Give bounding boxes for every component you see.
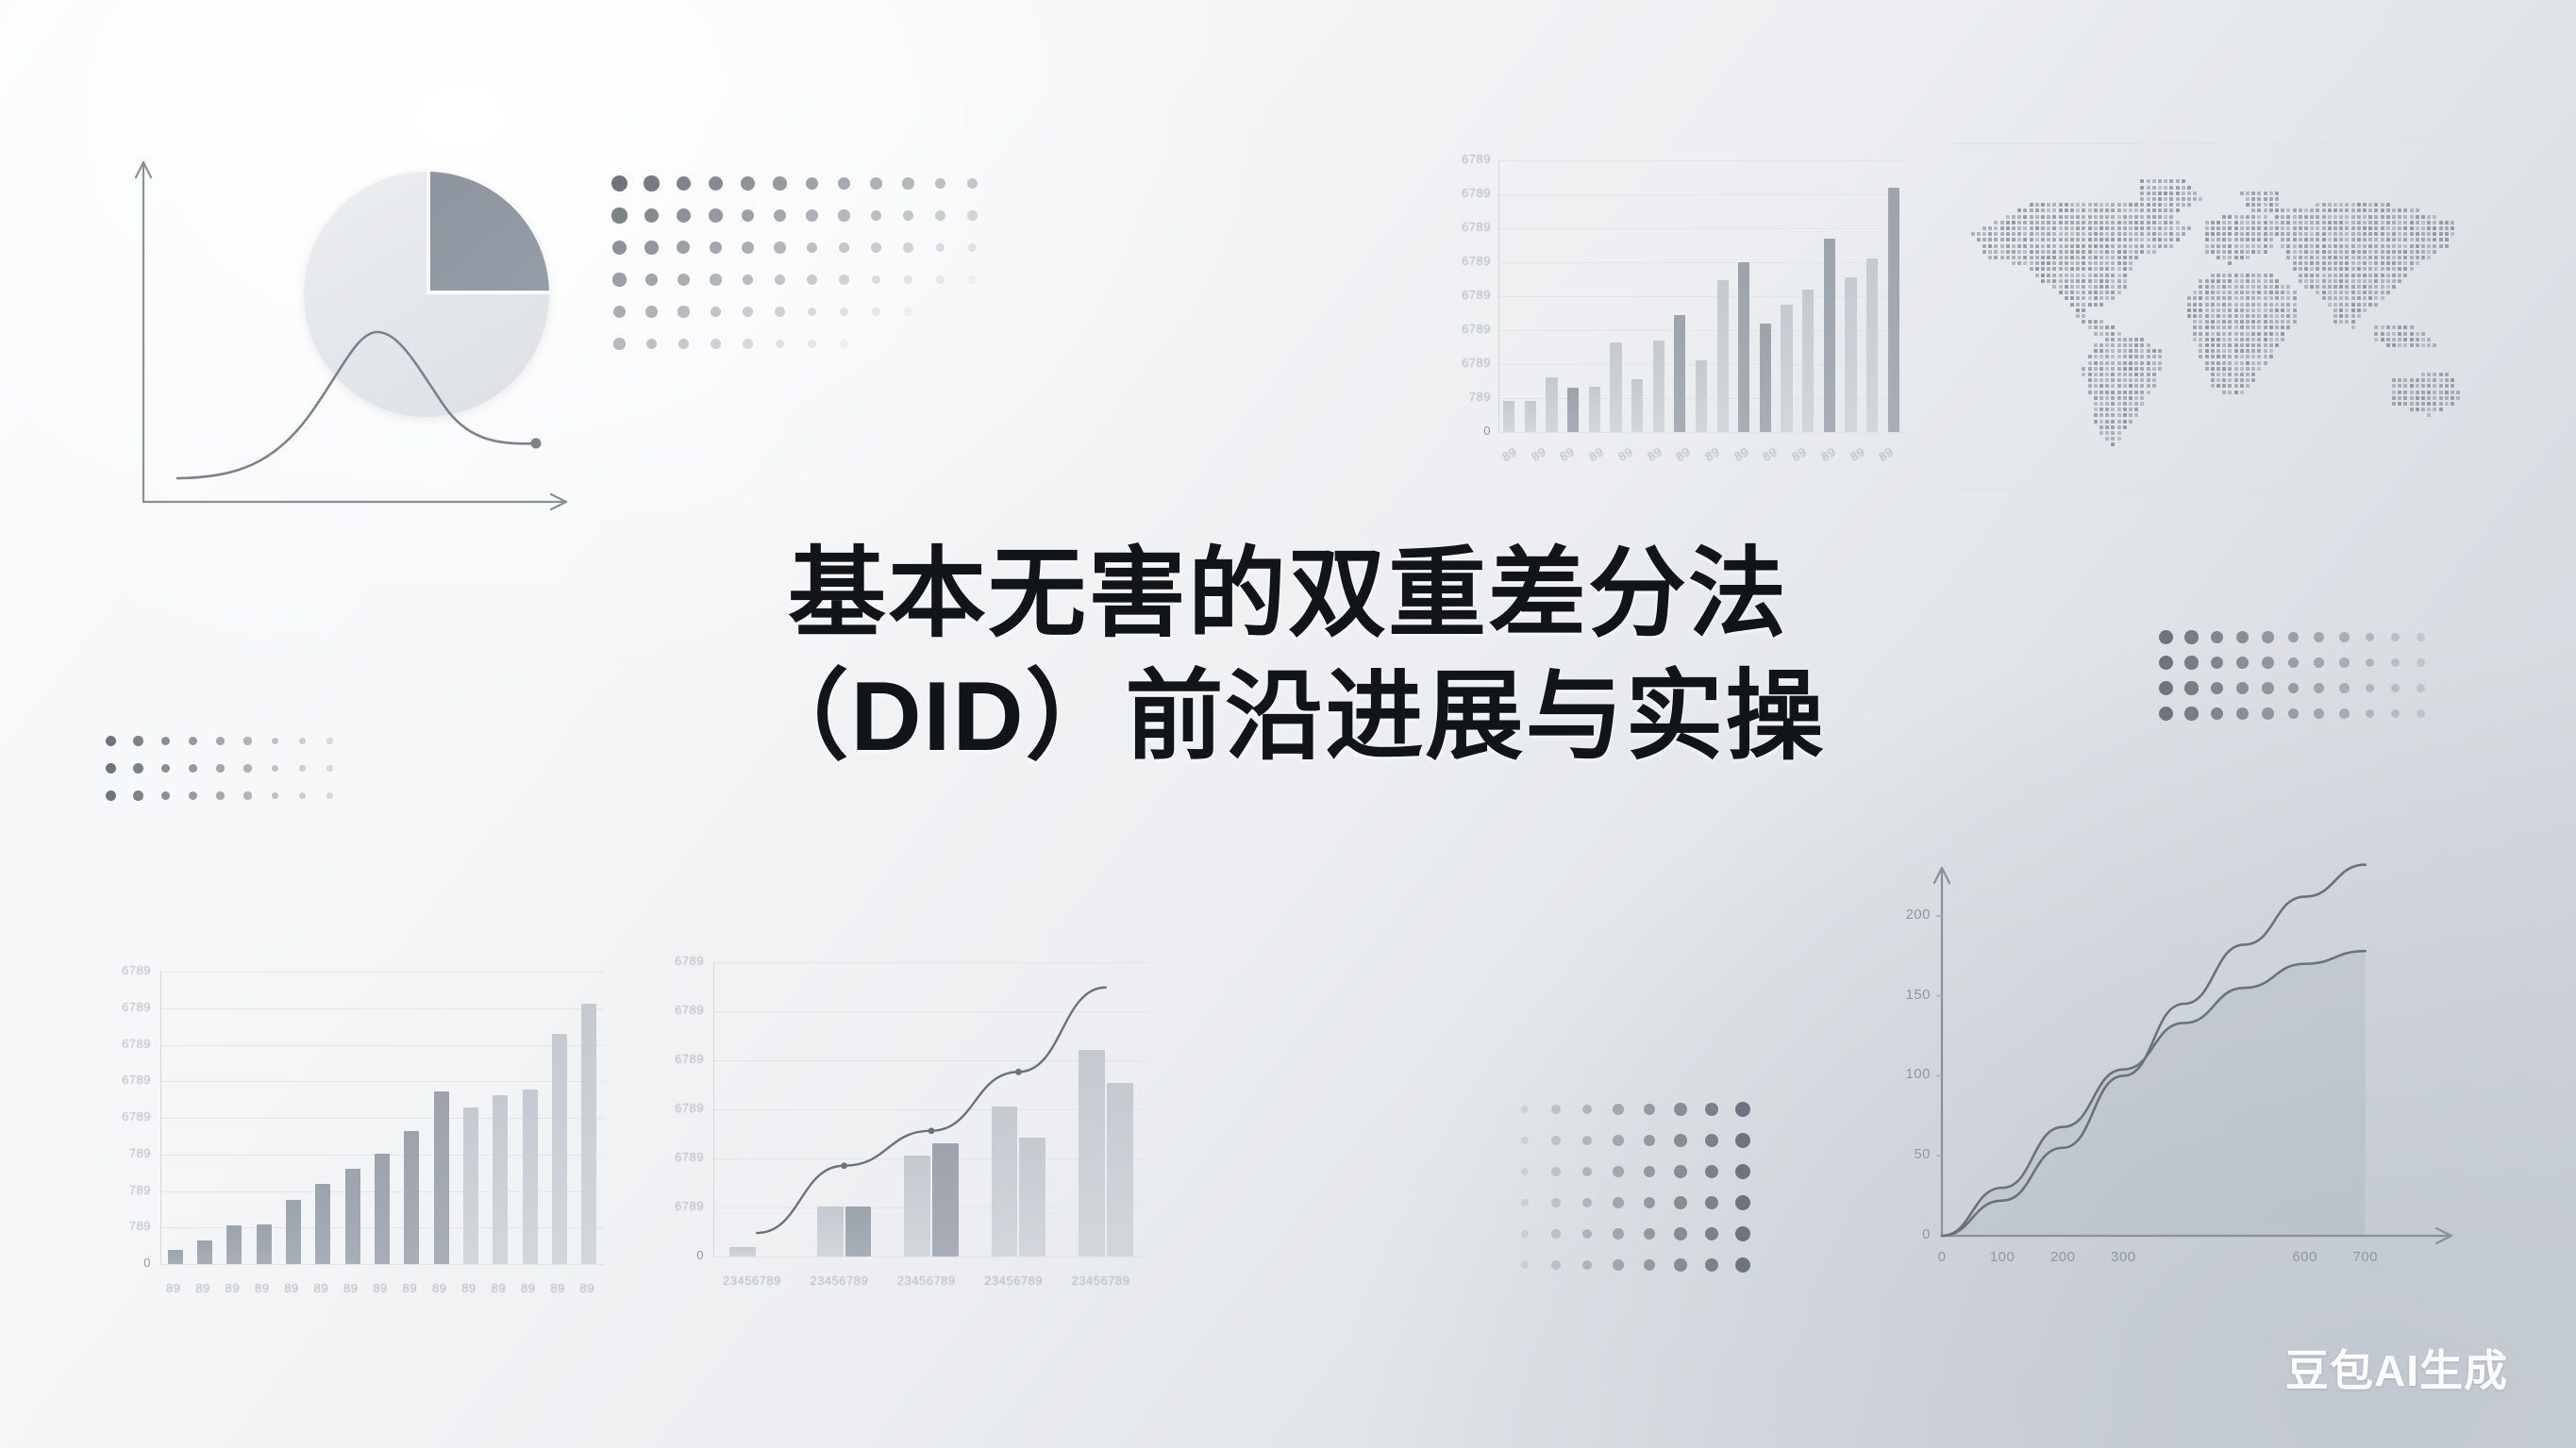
map-dot [2228, 343, 2232, 347]
map-dot [2117, 232, 2121, 236]
map-dot [2134, 203, 2138, 207]
map-dot [2451, 391, 2454, 394]
map-dot [2105, 208, 2109, 212]
map-dot [2117, 361, 2121, 365]
map-dot [2246, 221, 2250, 225]
map-dot [2299, 232, 2302, 236]
map-dot [2339, 244, 2343, 248]
map-dot [2094, 303, 2098, 307]
map-dot [2129, 215, 2133, 219]
map-dot [2392, 250, 2396, 254]
map-dot [2123, 221, 2127, 225]
map-dot [2187, 226, 2191, 230]
map-dot [2094, 291, 2098, 294]
map-dot [2427, 402, 2431, 406]
map-dot [2275, 203, 2279, 207]
map-dot [2368, 274, 2372, 277]
map-dot [2111, 238, 2115, 241]
map-dot [2286, 314, 2290, 318]
map-dot [2047, 279, 2050, 283]
map-dot [2339, 203, 2343, 207]
map-dot [2117, 343, 2121, 347]
grid-dot [936, 275, 945, 284]
map-dot [2193, 291, 2197, 294]
map-dot [2363, 232, 2367, 236]
y-tick-label: 6789 [1442, 356, 1491, 370]
map-dot [2023, 250, 2027, 254]
map-dot [2228, 367, 2232, 371]
map-dot [2176, 203, 2180, 207]
map-dot [2421, 256, 2425, 259]
map-dot [2251, 303, 2255, 307]
y-tick-label: 6789 [1442, 254, 1491, 268]
map-dot [2386, 238, 2390, 241]
map-dot [2158, 232, 2162, 236]
map-dot [2041, 208, 2045, 212]
grid-dot [1521, 1106, 1530, 1114]
map-dot [2182, 203, 2185, 207]
map-dot [2351, 291, 2355, 294]
watermark-label: 豆包AI生成 [2285, 1337, 2508, 1399]
map-dot [2099, 384, 2103, 388]
map-dot [2187, 203, 2191, 207]
bar [404, 1131, 419, 1264]
map-dot [2269, 203, 2273, 207]
map-dot [2129, 413, 2133, 417]
map-dot [2176, 179, 2180, 183]
map-dot [2193, 314, 2197, 318]
map-dot [2357, 244, 2361, 248]
map-dot [2134, 413, 2138, 417]
map-dot [2099, 215, 2103, 219]
map-dot [2339, 238, 2343, 241]
map-dot [2123, 420, 2127, 424]
grid-dot [1613, 1259, 1624, 1271]
grid-dot [613, 306, 626, 318]
map-dot [2099, 367, 2103, 371]
map-dot [2264, 296, 2267, 300]
map-dot [2363, 291, 2367, 294]
map-dot [2374, 332, 2378, 336]
map-dot [2381, 285, 2384, 289]
map-dot [1994, 226, 1998, 230]
grid-dot [1582, 1136, 1593, 1146]
grid-dot [742, 241, 754, 254]
bar [1631, 379, 1643, 432]
map-dot [2216, 355, 2220, 358]
map-dot [2316, 221, 2319, 225]
map-dot [2427, 378, 2431, 382]
x-tick-label: 89 [1558, 444, 1578, 464]
x-tick-label: 0 [1919, 1249, 1965, 1265]
map-dot [2439, 396, 2443, 400]
map-dot [2147, 179, 2150, 183]
map-dot [2381, 267, 2384, 271]
map-dot [2228, 391, 2232, 394]
grid-dot [272, 792, 278, 799]
map-dot [2059, 244, 2063, 248]
map-dot [2264, 355, 2267, 358]
map-dot [2333, 261, 2337, 265]
bar [375, 1154, 390, 1264]
map-dot [2035, 250, 2039, 254]
map-dot [2105, 408, 2109, 411]
map-dot [2111, 413, 2115, 417]
map-dot [2257, 332, 2261, 336]
map-dot [2339, 261, 2343, 265]
map-dot [2152, 378, 2156, 382]
map-dot [2017, 256, 2021, 259]
map-dot [2251, 349, 2255, 353]
grid-dot [743, 275, 754, 286]
y-tick-label: 6789 [94, 963, 151, 977]
map-dot [2351, 215, 2355, 219]
map-dot [2357, 291, 2361, 294]
map-dot [2099, 378, 2103, 382]
map-dot [1988, 256, 1992, 259]
x-tick-label: 89 [226, 1281, 240, 1295]
map-dot [2368, 215, 2372, 219]
map-dot [1988, 232, 1992, 236]
grid-dot [1582, 1198, 1593, 1208]
map-dot [2158, 208, 2162, 212]
map-dot [2345, 261, 2349, 265]
map-dot [2065, 244, 2068, 248]
grid-dot [743, 307, 753, 317]
bar [1781, 305, 1792, 432]
map-dot [2339, 250, 2343, 254]
map-dot [2392, 384, 2396, 388]
map-dot [2451, 396, 2454, 400]
map-dot [2129, 203, 2133, 207]
map-dot [2257, 291, 2261, 294]
map-dot [2088, 291, 2092, 294]
map-dot [2427, 384, 2431, 388]
map-dot [2257, 320, 2261, 324]
map-dot [2099, 296, 2103, 300]
map-dot [2094, 232, 2098, 236]
map-dot [2445, 384, 2449, 388]
map-dot [2070, 285, 2074, 289]
map-dot [2070, 279, 2074, 283]
map-dot [2246, 291, 2250, 294]
grid-dot [1582, 1229, 1593, 1240]
map-dot [2257, 308, 2261, 312]
map-dot [2216, 361, 2220, 365]
map-dot [2310, 221, 2314, 225]
map-dot [2123, 215, 2127, 219]
map-dot [2374, 256, 2378, 259]
map-dot [2386, 208, 2390, 212]
map-dot [2211, 384, 2215, 388]
line-chart-bottom-right-svg [1887, 830, 2472, 1283]
map-dot [2052, 279, 2056, 283]
grid-dot [871, 210, 882, 222]
map-dot [2129, 378, 2133, 382]
map-dot [2246, 285, 2250, 289]
line-marker [841, 1162, 847, 1169]
map-dot [2416, 208, 2419, 212]
map-dot [2193, 338, 2197, 341]
map-dot [2222, 238, 2226, 241]
map-dot [2398, 267, 2401, 271]
map-dot [2403, 221, 2407, 225]
map-dot [2076, 215, 2080, 219]
map-dot [2410, 402, 2414, 406]
map-dot [2006, 215, 2010, 219]
map-dot [2246, 314, 2250, 318]
map-dot [2275, 279, 2279, 283]
map-dot [2222, 361, 2226, 365]
map-dot [2222, 279, 2226, 283]
map-dot [2105, 437, 2109, 441]
grid-dot [1582, 1167, 1593, 1177]
map-dot [2246, 361, 2250, 365]
map-dot [2293, 320, 2297, 324]
map-dot [2211, 279, 2215, 283]
y-tick-label: 6789 [94, 1109, 151, 1123]
map-dot [2205, 221, 2209, 225]
y-tick-label: 6789 [1442, 152, 1491, 166]
map-dot [2059, 208, 2063, 212]
map-dot [2099, 226, 2103, 230]
x-tick-label: 89 [1615, 444, 1635, 464]
map-dot [2205, 349, 2209, 353]
map-dot [2134, 244, 2138, 248]
map-dot [2246, 303, 2250, 307]
map-dot [2264, 238, 2267, 241]
map-dot [2099, 349, 2103, 353]
map-dot [2439, 221, 2443, 225]
map-dot [2105, 343, 2109, 347]
map-dot [2246, 378, 2250, 382]
bar [1525, 401, 1536, 432]
map-dot [2416, 384, 2419, 388]
map-dot [2205, 238, 2209, 241]
map-dot [2392, 396, 2396, 400]
map-dot [2339, 296, 2343, 300]
map-dot [2094, 343, 2098, 347]
map-dot [2152, 349, 2156, 353]
map-dot [2147, 203, 2150, 207]
map-dot [2117, 261, 2121, 265]
map-dot [2105, 367, 2109, 371]
map-dot [2199, 343, 2202, 347]
map-dot [2299, 208, 2302, 212]
map-dot [2304, 226, 2308, 230]
map-dot [2228, 373, 2232, 376]
map-dot [2257, 296, 2261, 300]
map-dot [2357, 250, 2361, 254]
map-dot [1982, 238, 1986, 241]
map-dot [2076, 203, 2080, 207]
map-dot [2012, 221, 2016, 225]
map-dot [2351, 267, 2355, 271]
map-dot [2269, 279, 2273, 283]
x-tick-label: 23456789 [1072, 1273, 1130, 1288]
map-dot [2094, 250, 2098, 254]
map-dot [2251, 332, 2255, 336]
map-dot [2117, 378, 2121, 382]
map-dot [2023, 215, 2027, 219]
map-dot [2240, 378, 2244, 382]
map-dot [2246, 343, 2250, 347]
x-tick-label: 89 [1529, 444, 1548, 464]
map-dot [2351, 221, 2355, 225]
map-dot [2345, 296, 2349, 300]
map-dot [2264, 226, 2267, 230]
map-dot [2199, 355, 2202, 358]
map-dot [2345, 232, 2349, 236]
map-dot [2076, 250, 2080, 254]
world-map-dots [1953, 168, 2501, 462]
map-dot [2216, 343, 2220, 347]
map-dot [2299, 238, 2302, 241]
map-dot [2421, 396, 2425, 400]
map-dot [2410, 215, 2414, 219]
map-dot [2427, 250, 2431, 254]
map-dot [2363, 226, 2367, 230]
map-dot [2070, 226, 2074, 230]
map-dot [2216, 285, 2220, 289]
map-dot [2147, 208, 2150, 212]
map-dot [2065, 203, 2068, 207]
map-dot [2416, 232, 2419, 236]
grid-dot [644, 175, 659, 191]
map-dot [2234, 244, 2238, 248]
map-dot [2111, 420, 2115, 424]
map-dot [2381, 244, 2384, 248]
map-dot [2012, 226, 2016, 230]
map-dot [2099, 221, 2103, 225]
grid-dot [1551, 1105, 1561, 1114]
map-dot [2205, 320, 2209, 324]
map-dot [2251, 191, 2255, 195]
map-dot [2403, 238, 2407, 241]
map-dot [2339, 232, 2343, 236]
map-dot [2105, 261, 2109, 265]
line-marker [928, 1127, 935, 1134]
bar-chart-bottom-left: 078978978967896789678967896789 898989898… [85, 934, 632, 1330]
map-dot [2316, 203, 2319, 207]
map-dot [2275, 226, 2279, 230]
map-dot [2134, 232, 2138, 236]
map-dot [2199, 296, 2202, 300]
map-dot [2140, 179, 2144, 183]
map-dot [2281, 221, 2284, 225]
x-tick-label: 89 [432, 1281, 446, 1295]
map-dot [2222, 343, 2226, 347]
map-dot [2193, 303, 2197, 307]
map-dot [2234, 338, 2238, 341]
grid-dot [741, 176, 755, 191]
bar-chart-top-right-bars [1498, 160, 1904, 432]
map-dot [2416, 396, 2419, 400]
map-dot [2251, 361, 2255, 365]
map-dot [2117, 391, 2121, 394]
map-dot [2059, 250, 2063, 254]
y-tick-label: 0 [1442, 424, 1491, 438]
map-dot [2082, 215, 2085, 219]
grid-dot [776, 340, 785, 349]
map-dot [2357, 274, 2361, 277]
map-dot [2368, 296, 2372, 300]
map-dot [2211, 274, 2215, 277]
map-dot [2333, 238, 2337, 241]
map-dot [2304, 279, 2308, 283]
map-dot [2386, 343, 2390, 347]
grid-dot [710, 241, 722, 254]
bar [315, 1184, 330, 1264]
map-dot [2293, 296, 2297, 300]
map-dot [2286, 303, 2290, 307]
map-dot [2240, 355, 2244, 358]
map-dot [2228, 261, 2232, 265]
map-dot [1977, 232, 1981, 236]
map-dot [2129, 221, 2133, 225]
map-dot [2099, 402, 2103, 406]
bar [1717, 280, 1729, 432]
map-dot [2357, 256, 2361, 259]
map-dot [2052, 244, 2056, 248]
map-dot [2357, 314, 2361, 318]
map-dot [2386, 279, 2390, 283]
map-dot [2322, 256, 2326, 259]
grid-dot [1674, 1258, 1687, 1272]
map-dot [2363, 208, 2367, 212]
map-dot [2099, 396, 2103, 400]
map-dot [2299, 261, 2302, 265]
map-dot [2094, 391, 2098, 394]
map-dot [2281, 296, 2284, 300]
map-dot [2059, 226, 2063, 230]
map-dot [2328, 285, 2332, 289]
map-dot [2111, 442, 2115, 446]
map-dot [2410, 221, 2414, 225]
map-dot [2094, 208, 2098, 212]
map-dot [2164, 226, 2167, 230]
map-dot [2269, 314, 2273, 318]
map-dot [2088, 325, 2092, 329]
x-tick-label: 89 [1789, 444, 1809, 464]
map-dot [2269, 349, 2273, 353]
map-dot [2228, 325, 2232, 329]
map-dot [2439, 402, 2443, 406]
map-dot [2316, 256, 2319, 259]
map-dot [2199, 349, 2202, 353]
map-dot [2216, 338, 2220, 341]
map-dot [2211, 343, 2215, 347]
grid-dot [1735, 1195, 1750, 1210]
map-dot [2381, 208, 2384, 212]
map-dot [2222, 314, 2226, 318]
bar [463, 1107, 478, 1264]
map-dot [2134, 384, 2138, 388]
map-dot [2445, 226, 2449, 230]
map-dot [2094, 256, 2098, 259]
map-dot [2205, 343, 2209, 347]
map-dot [2070, 256, 2074, 259]
grid-dot [774, 209, 786, 222]
map-dot [2264, 221, 2267, 225]
map-dot [2099, 420, 2103, 424]
map-dot [2433, 396, 2436, 400]
map-dot [2368, 303, 2372, 307]
map-dot [2398, 338, 2401, 341]
map-dot [2123, 250, 2127, 254]
map-dot [2123, 261, 2127, 265]
map-dot [2286, 244, 2290, 248]
